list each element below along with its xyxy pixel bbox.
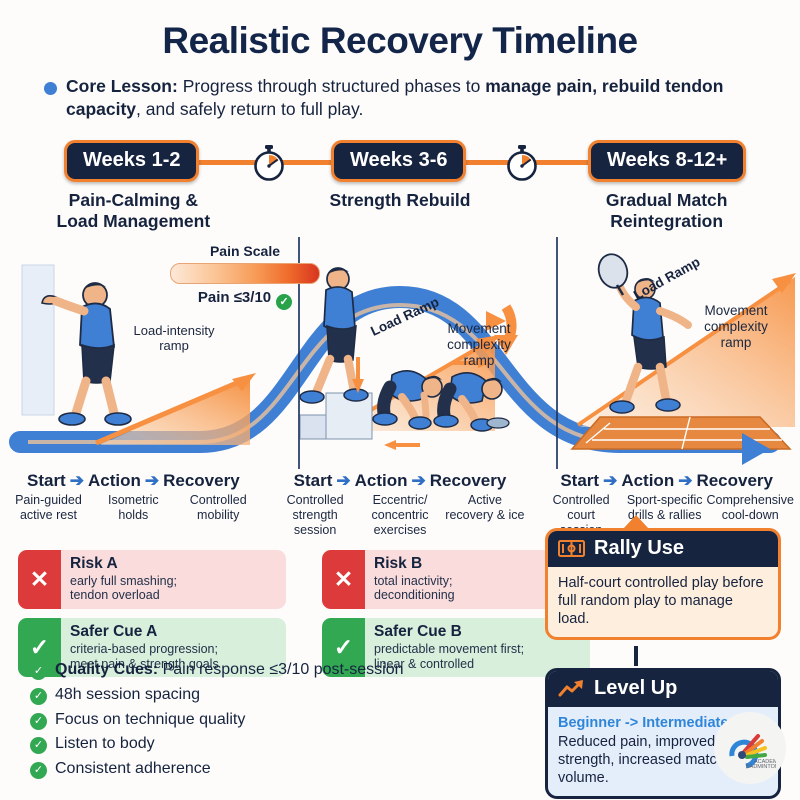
flow-sub-action: Eccentric/concentricexercises <box>358 493 443 538</box>
phase-name-1: Pain-Calming &Load Management <box>0 190 267 233</box>
core-lesson-label: Core Lesson: <box>66 76 178 96</box>
arrow-right-icon: ➔ <box>70 472 84 489</box>
academy-logo: ACADEMY BADMINTON <box>714 712 786 784</box>
phase-name-3: Gradual MatchReintegration <box>533 190 800 233</box>
card-connector <box>634 646 638 666</box>
check-icon: ✓ <box>30 713 47 730</box>
phase3-ramp-label: Movementcomplexityramp <box>680 303 792 351</box>
phase-pill-1[interactable]: Weeks 1-2 <box>64 140 199 182</box>
illustration-band: Pain Scale Pain ≤3/10✓ Load-intensityram… <box>0 237 800 469</box>
arrow-right-icon: ➔ <box>603 472 617 489</box>
flow-column-1: Start ➔ Action ➔ Recovery Pain-guidedact… <box>0 471 267 538</box>
stopwatch-icon <box>505 145 539 181</box>
level-up-highlight: Beginner -> Intermediate: <box>558 715 733 731</box>
phase-names-row: Pain-Calming &Load Management Strength R… <box>0 190 800 233</box>
arrow-right-icon: ➔ <box>336 472 350 489</box>
court-icon <box>558 540 585 557</box>
flow-subs: Controlledstrengthsession Eccentric/conc… <box>273 493 528 538</box>
svg-text:BADMINTON: BADMINTON <box>746 764 776 770</box>
flow-heads: Start ➔ Action ➔ Recovery <box>6 471 261 491</box>
phase-name-2: Strength Rebuild <box>267 190 534 233</box>
flow-head-action: Action <box>88 471 141 491</box>
level-up-header: Level Up <box>548 671 778 707</box>
stopwatch-icon <box>252 145 286 181</box>
card-desc: early full smashing;tendon overload <box>70 574 277 604</box>
timeline-strip: Weeks 1-2 Weeks 3-6 Weeks 8-12+ <box>0 138 800 184</box>
list-item: ✓ Listen to body <box>30 734 404 755</box>
rally-use-header: Rally Use <box>548 531 778 567</box>
flow-head-start: Start <box>294 471 333 491</box>
pain-scale-value: Pain ≤3/10✓ <box>170 289 320 310</box>
arrow-right-icon: ➔ <box>412 472 426 489</box>
flow-sub-start: Controlledstrengthsession <box>273 493 358 538</box>
pain-scale-widget: Pain Scale Pain ≤3/10✓ <box>170 243 320 310</box>
phase-pill-3[interactable]: Weeks 8-12+ <box>588 140 746 182</box>
page-title: Realistic Recovery Timeline <box>0 0 800 61</box>
flow-heads: Start ➔ Action ➔ Recovery <box>273 471 528 491</box>
cue-text: Quality Cues: Pain response ≤3/10 post-s… <box>55 660 404 681</box>
cross-icon: ✕ <box>322 550 365 609</box>
pain-value-text: Pain ≤3/10 <box>198 289 271 306</box>
cue-text: Listen to body <box>55 734 155 755</box>
phase2-ramp-label: Movementcomplexityramp <box>424 321 534 369</box>
flow-sub-recovery: Activerecovery & ice <box>442 493 527 538</box>
arrow-right-icon: ➔ <box>145 472 159 489</box>
check-icon: ✓ <box>30 663 47 680</box>
level-up-title: Level Up <box>594 677 677 700</box>
flow-head-recovery: Recovery <box>696 471 773 491</box>
phase1-ramp-label: Load-intensityramp <box>114 323 234 354</box>
shuttlecock-logo-icon: ACADEMY BADMINTON <box>724 726 776 770</box>
infographic-page: Realistic Recovery Timeline Core Lesson:… <box>0 0 800 800</box>
core-lesson: Core Lesson: Progress through structured… <box>44 75 760 122</box>
flow-head-recovery: Recovery <box>430 471 507 491</box>
cue-label: Quality Cues: <box>55 661 158 678</box>
core-lesson-part1: Progress through structured phases to <box>178 76 485 96</box>
cue-text: Focus on technique quality <box>55 710 245 731</box>
rally-use-card[interactable]: Rally Use Half-court controlled play bef… <box>545 528 781 640</box>
flow-heads: Start ➔ Action ➔ Recovery <box>539 471 794 491</box>
flow-head-action: Action <box>621 471 674 491</box>
flow-head-start: Start <box>27 471 66 491</box>
cue-text: Consistent adherence <box>55 759 211 780</box>
flow-head-action: Action <box>355 471 408 491</box>
flow-column-2: Start ➔ Action ➔ Recovery Controlledstre… <box>267 471 534 538</box>
check-icon: ✓ <box>30 762 47 779</box>
card-title: Safer Cue A <box>70 623 277 641</box>
cue-text: 48h session spacing <box>55 685 200 706</box>
flow-sub-start: Pain-guidedactive rest <box>6 493 91 523</box>
column-divider <box>556 237 558 469</box>
list-item: ✓ Focus on technique quality <box>30 710 404 731</box>
flow-head-recovery: Recovery <box>163 471 240 491</box>
arrow-right-icon: ➔ <box>678 472 692 489</box>
core-lesson-text: Core Lesson: Progress through structured… <box>66 75 760 122</box>
notch-arrow-icon <box>623 515 649 529</box>
check-icon: ✓ <box>276 294 292 310</box>
flow-head-start: Start <box>560 471 599 491</box>
risk-card-a[interactable]: ✕ Risk A early full smashing;tendon over… <box>18 550 286 609</box>
phase-pill-2[interactable]: Weeks 3-6 <box>331 140 466 182</box>
list-item: ✓ Consistent adherence <box>30 759 404 780</box>
trend-up-icon <box>558 679 585 698</box>
flow-sub-action: Isometricholds <box>91 493 176 523</box>
pain-scale-title: Pain Scale <box>170 243 320 259</box>
rally-use-body: Half-court controlled play before full r… <box>548 567 778 637</box>
check-icon: ✓ <box>30 688 47 705</box>
rally-use-title: Rally Use <box>594 537 684 560</box>
cue-value: Pain response ≤3/10 post-session <box>158 661 403 678</box>
list-item: ✓ 48h session spacing <box>30 685 404 706</box>
cross-icon: ✕ <box>18 550 61 609</box>
quality-cues-list: ✓ Quality Cues: Pain response ≤3/10 post… <box>30 660 404 784</box>
bullet-dot-icon <box>44 82 57 95</box>
card-title: Risk A <box>70 555 277 573</box>
card-body: Risk A early full smashing;tendon overlo… <box>61 550 286 609</box>
pain-scale-bar <box>170 263 320 284</box>
check-icon: ✓ <box>30 737 47 754</box>
list-item: ✓ Quality Cues: Pain response ≤3/10 post… <box>30 660 404 681</box>
flow-sub-recovery: Controlledmobility <box>176 493 261 523</box>
flow-subs: Pain-guidedactive rest Isometricholds Co… <box>6 493 261 523</box>
core-lesson-part2: , and safely return to full play. <box>136 99 363 119</box>
